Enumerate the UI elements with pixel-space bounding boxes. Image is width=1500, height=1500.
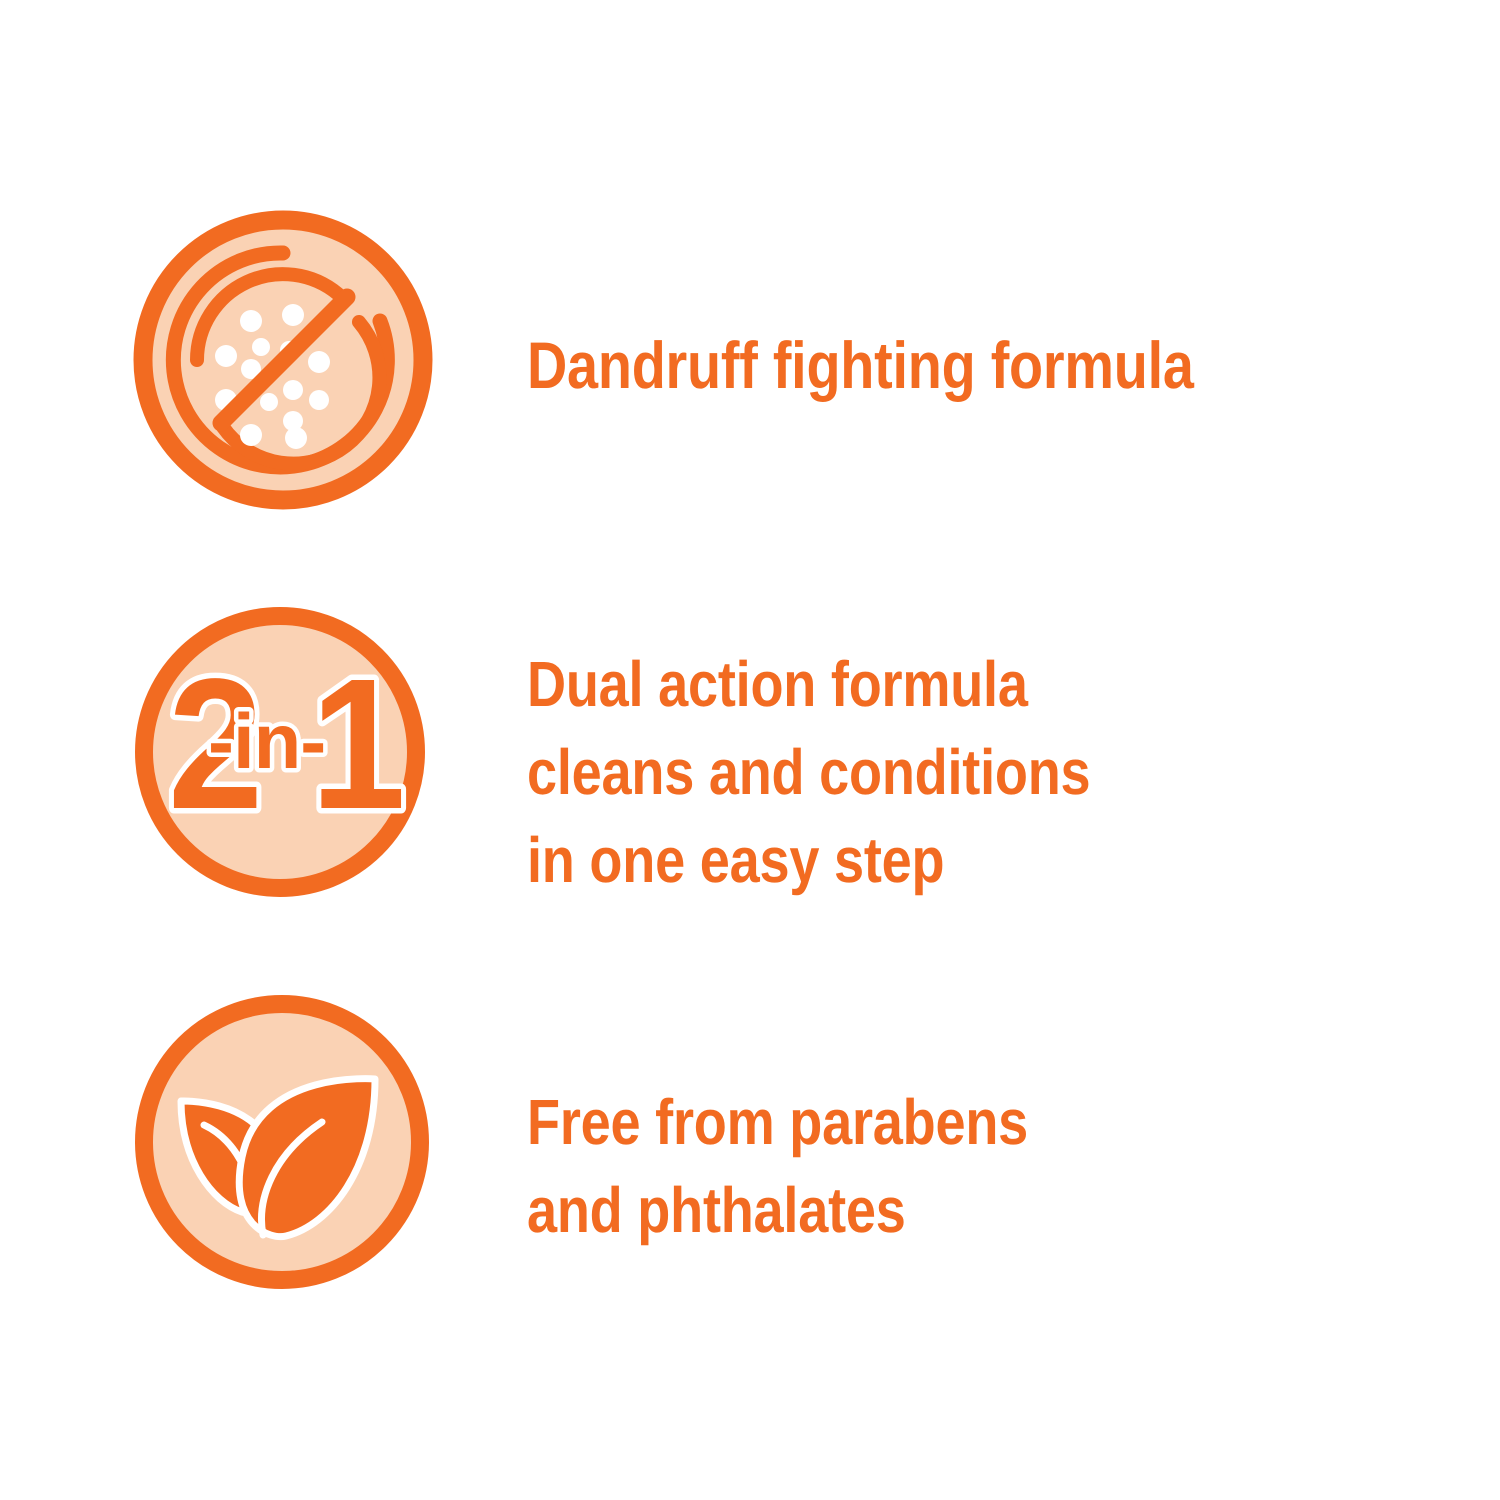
feature-row: Free from parabens and phthalates bbox=[0, 0, 1500, 500]
leaves-icon bbox=[134, 994, 430, 1290]
feature-text-dual-action: Dual action formula cleans and condition… bbox=[527, 640, 1090, 904]
badge-in-label: -in- bbox=[208, 697, 325, 785]
svg-text:-in-: -in- bbox=[208, 697, 325, 785]
two-in-one-icon: 2 1 -in- bbox=[134, 606, 426, 898]
feature-list: Dandruff fighting formula 2 1 -in- Du bbox=[0, 0, 1500, 1500]
feature-text-free-from: Free from parabens and phthalates bbox=[527, 1078, 1028, 1254]
